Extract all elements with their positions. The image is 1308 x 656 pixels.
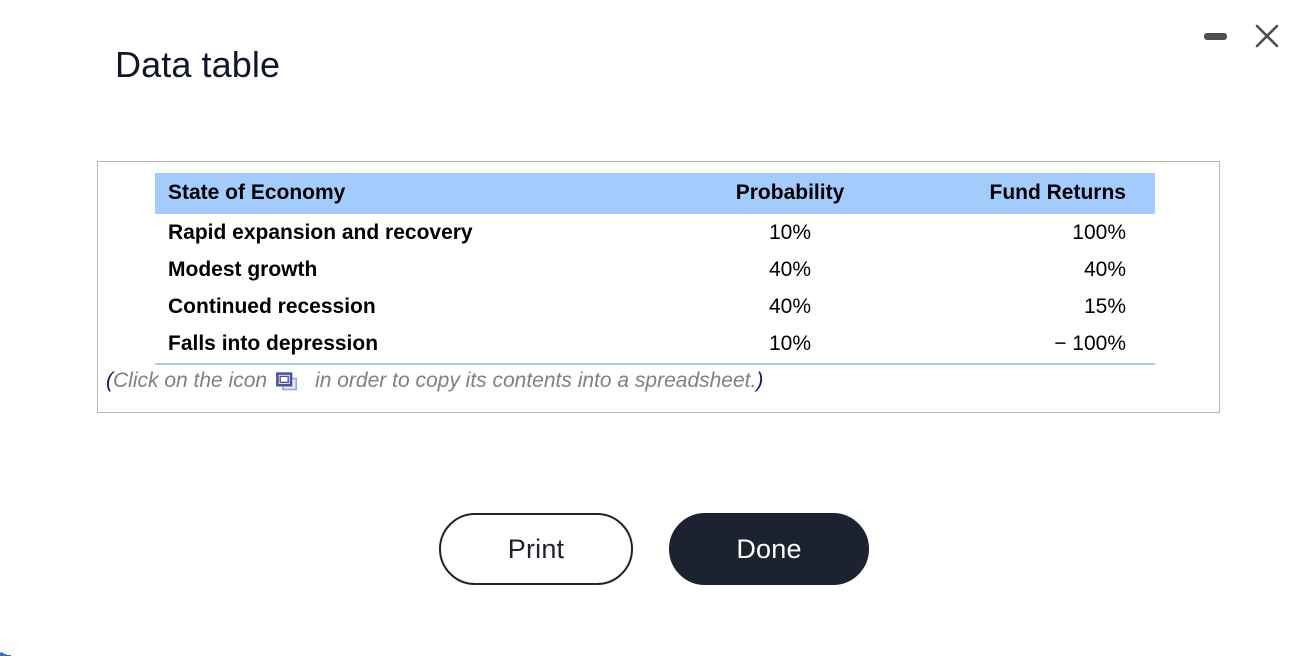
cell-fund-returns: 100% <box>925 214 1155 251</box>
minimize-icon <box>1204 33 1227 40</box>
copy-icon[interactable] <box>276 372 298 392</box>
table-row: Falls into depression 10% − 100% <box>155 325 1155 362</box>
corner-marker-icon <box>0 647 11 656</box>
cell-probability: 40% <box>655 251 925 288</box>
footnote-text-after: in order to copy its contents into a spr… <box>315 369 756 393</box>
table-header-row: State of Economy Probability Fund Return… <box>155 173 1155 214</box>
footnote-close-paren: ) <box>756 369 763 393</box>
cell-state: Modest growth <box>155 251 655 288</box>
footnote: ( Click on the icon in order to copy its… <box>106 369 763 393</box>
column-header-probability: Probability <box>655 173 925 214</box>
data-table-panel: State of Economy Probability Fund Return… <box>97 161 1220 413</box>
done-button[interactable]: Done <box>669 513 869 585</box>
page-title: Data table <box>115 44 280 86</box>
cell-probability: 10% <box>655 325 925 362</box>
cell-state: Rapid expansion and recovery <box>155 214 655 251</box>
window-controls <box>1148 0 1308 72</box>
data-table: State of Economy Probability Fund Return… <box>155 173 1155 362</box>
cell-probability: 10% <box>655 214 925 251</box>
minimize-button[interactable] <box>1198 19 1232 53</box>
column-header-state: State of Economy <box>155 173 655 214</box>
cell-fund-returns: 15% <box>925 288 1155 325</box>
table-row: Continued recession 40% 15% <box>155 288 1155 325</box>
footnote-text-before: Click on the icon <box>113 369 267 393</box>
action-buttons: Print Done <box>0 513 1308 585</box>
table-row: Rapid expansion and recovery 10% 100% <box>155 214 1155 251</box>
table-row: Modest growth 40% 40% <box>155 251 1155 288</box>
footnote-open-paren: ( <box>106 369 113 393</box>
cell-probability: 40% <box>655 288 925 325</box>
cell-fund-returns: − 100% <box>925 325 1155 362</box>
cell-fund-returns: 40% <box>925 251 1155 288</box>
close-button[interactable] <box>1250 19 1284 53</box>
cell-state: Falls into depression <box>155 325 655 362</box>
table-bottom-rule <box>155 363 1155 365</box>
cell-state: Continued recession <box>155 288 655 325</box>
close-icon <box>1253 22 1281 50</box>
print-button[interactable]: Print <box>439 513 633 585</box>
column-header-fund-returns: Fund Returns <box>925 173 1155 214</box>
